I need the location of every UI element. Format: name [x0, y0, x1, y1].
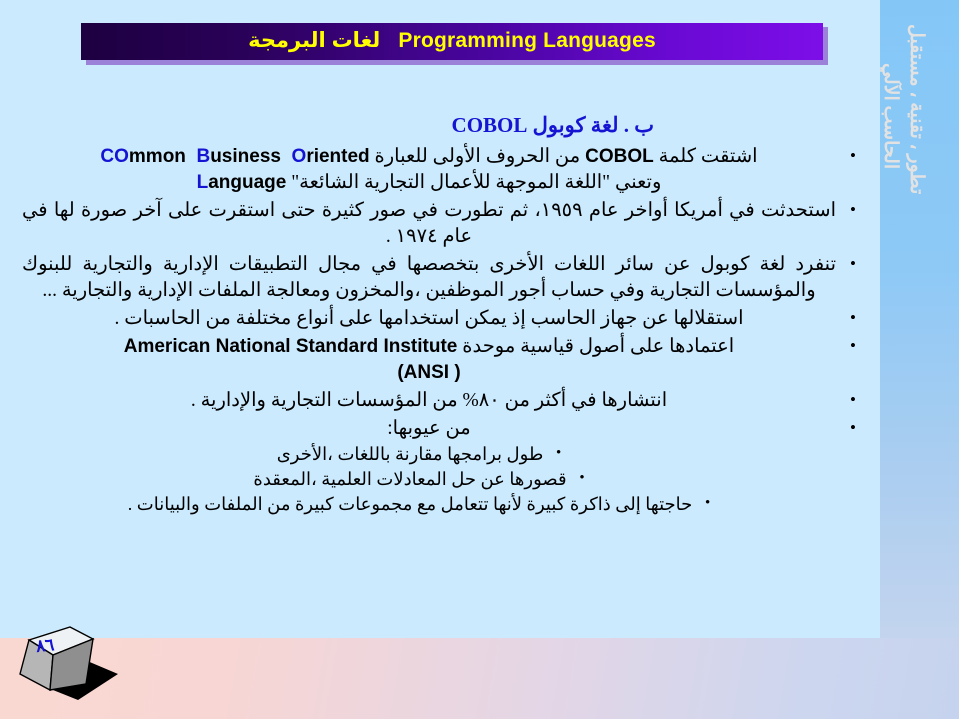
acronym-mmon: mmon — [129, 146, 186, 167]
sub-bullet-list: طول برامجها مقارنة باللغات ،الأخرى قصوره… — [22, 442, 836, 517]
bullet-origin-line1: اشتقت كلمة COBOL من الحروف الأولى للعبار… — [22, 144, 836, 170]
list-item: حاجتها إلى ذاكرة كبيرة لأنها تتعامل مع م… — [22, 492, 836, 517]
slide-title: Programming Languages لغات البرمجة — [248, 28, 656, 53]
acronym-usiness: usiness — [210, 146, 281, 167]
list-item: استقلالها عن جهاز الحاسب إذ يمكن استخدام… — [22, 306, 858, 332]
page-number: ٨٦ — [35, 635, 55, 657]
cobol-word: COBOL — [585, 146, 654, 167]
bullet-origin-ar-1: اشتقت كلمة — [654, 146, 758, 167]
acronym-anguage: anguage — [208, 172, 286, 193]
slide-body: اشتقت كلمة COBOL من الحروف الأولى للعبار… — [22, 144, 858, 519]
bullet-origin-ar-2: من الحروف الأولى للعبارة — [375, 146, 586, 167]
list-item: من عيوبها: طول برامجها مقارنة باللغات ،ا… — [22, 416, 858, 517]
slide-sidebar-background — [880, 0, 959, 638]
page-title: ب . لغة كوبول COBOL — [452, 113, 654, 138]
keycap-graphic — [8, 622, 138, 714]
acronym-co: CO — [100, 146, 129, 167]
bullet-ansi-line2: (ANSI ) — [22, 360, 836, 386]
bullet-origin-line2: وتعني "اللغة الموجهة للأعمال التجارية ال… — [22, 170, 836, 196]
acronym-l: L — [197, 172, 209, 193]
acronym-riented: riented — [306, 146, 369, 167]
ansi-abbreviation: (ANSI ) — [397, 362, 460, 383]
bullet-ansi-ar: اعتمادها على أصول قياسية موحدة — [462, 336, 734, 357]
sub-bullet-memory: حاجتها إلى ذاكرة كبيرة لأنها تتعامل مع م… — [128, 492, 710, 517]
acronym-b: B — [196, 146, 210, 167]
acronym-o: O — [292, 146, 307, 167]
list-item: استحدثت في أمريكا أواخر عام ١٩٥٩، ثم تطو… — [22, 198, 858, 250]
bullet-ansi-line1: اعتمادها على أصول قياسية موحدة American … — [22, 334, 836, 360]
disadvantages-heading: من عيوبها: — [22, 416, 836, 442]
slide: Programming Languages لغات البرمجة ب . ل… — [0, 0, 959, 719]
keycap-icon — [8, 622, 138, 714]
list-item: قصورها عن حل المعادلات العلمية ،المعقدة — [22, 467, 836, 492]
cobol-expansion-part2: Language — [197, 172, 287, 193]
ansi-full-name: American National Standard Institute — [124, 336, 458, 357]
sub-bullet-long-programs: طول برامجها مقارنة باللغات ،الأخرى — [277, 442, 562, 467]
list-item: اعتمادها على أصول قياسية موحدة American … — [22, 334, 858, 386]
cobol-expansion-part1: COmmon Business Oriented — [100, 146, 369, 167]
bullet-list: اشتقت كلمة COBOL من الحروف الأولى للعبار… — [22, 144, 858, 517]
list-item: اشتقت كلمة COBOL من الحروف الأولى للعبار… — [22, 144, 858, 196]
list-item: انتشارها في أكثر من ٨٠% من المؤسسات التج… — [22, 388, 858, 414]
title-bar: Programming Languages لغات البرمجة — [81, 23, 823, 60]
sub-bullet-scientific: قصورها عن حل المعادلات العلمية ،المعقدة — [253, 467, 584, 492]
list-item: تنفرد لغة كوبول عن سائر اللغات الأخرى بت… — [22, 252, 858, 304]
bullet-origin-ar-3: وتعني "اللغة الموجهة للأعمال التجارية ال… — [291, 172, 661, 193]
list-item: طول برامجها مقارنة باللغات ،الأخرى — [22, 442, 836, 467]
